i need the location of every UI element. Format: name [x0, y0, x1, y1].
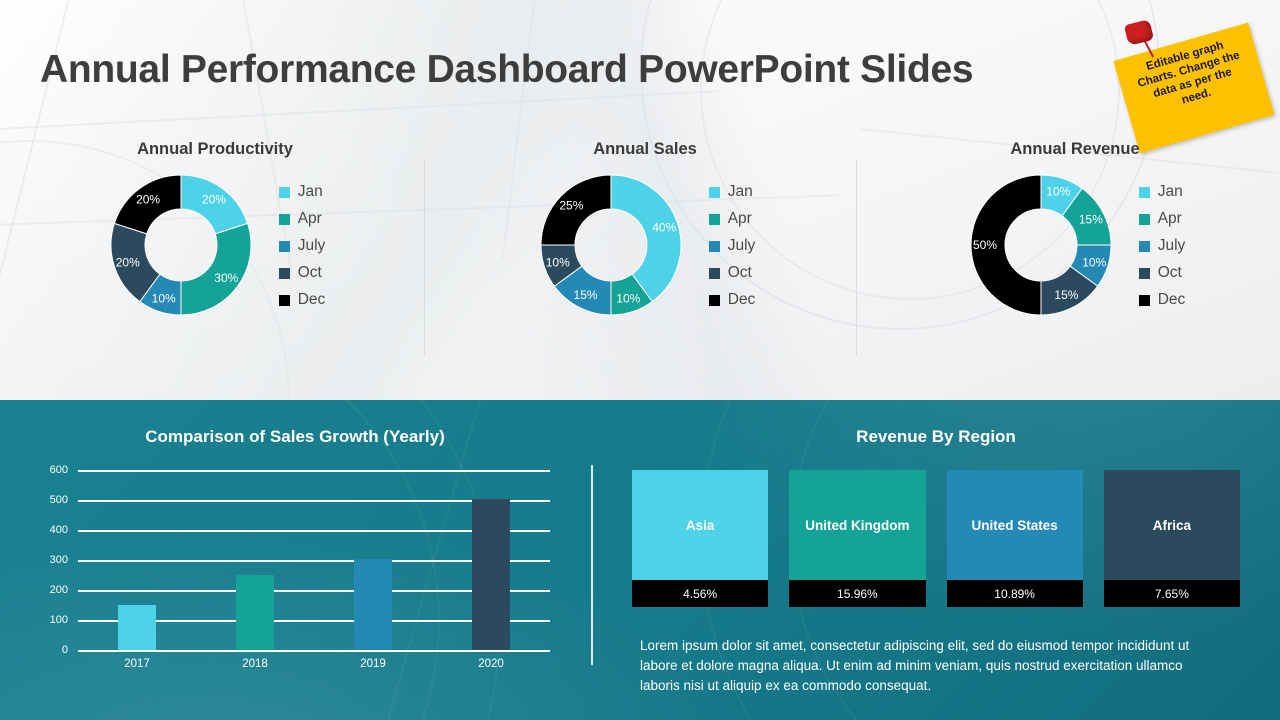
legend-swatch-icon	[279, 214, 290, 225]
region-card[interactable]: United Kingdom15.96%	[789, 470, 925, 607]
legend-item[interactable]: Dec	[709, 291, 756, 309]
legend-label: Jan	[298, 183, 323, 201]
donut-segment-value: 10%	[151, 291, 175, 305]
bar[interactable]	[236, 575, 274, 650]
panel-divider	[424, 160, 425, 356]
region-card-body: United Kingdom	[789, 470, 925, 580]
panel-divider	[856, 160, 857, 356]
slide-root: Annual Performance Dashboard PowerPoint …	[0, 0, 1280, 720]
legend-label: Oct	[728, 264, 752, 282]
region-percent-bar: 15.96%	[789, 580, 925, 607]
legend-swatch-icon	[709, 187, 720, 198]
region-card-body: Africa	[1104, 470, 1240, 580]
donut-segment-value: 25%	[559, 198, 583, 212]
region-percent-value: 10.89%	[994, 587, 1035, 601]
section-divider	[591, 465, 593, 665]
region-percent-bar: 10.89%	[947, 580, 1083, 607]
legend-swatch-icon	[709, 241, 720, 252]
legend-label: Apr	[298, 210, 322, 228]
legend-item[interactable]: Jan	[279, 183, 326, 201]
legend-label: Oct	[1158, 264, 1182, 282]
region-card[interactable]: United States10.89%	[947, 470, 1083, 607]
legend-item[interactable]: Apr	[1139, 210, 1186, 228]
region-percent-value: 7.65%	[1155, 587, 1189, 601]
legend-swatch-icon	[1139, 187, 1150, 198]
legend-item[interactable]: Apr	[709, 210, 756, 228]
legend-item[interactable]: Dec	[279, 291, 326, 309]
x-axis-tick-label: 2020	[478, 658, 504, 670]
donut-chart: 20%30%10%20%20%	[105, 169, 257, 321]
region-card[interactable]: Africa7.65%	[1104, 470, 1240, 607]
legend-label: Jan	[728, 183, 753, 201]
region-percent-bar: 7.65%	[1104, 580, 1240, 607]
donut-segment-value: 15%	[1054, 288, 1078, 302]
donut-legend: JanAprJulyOctDec	[709, 181, 756, 309]
legend-swatch-icon	[279, 295, 290, 306]
region-percent-value: 4.56%	[683, 587, 717, 601]
donut-segment-value: 10%	[545, 255, 569, 269]
legend-swatch-icon	[1139, 214, 1150, 225]
legend-item[interactable]: Oct	[709, 264, 756, 282]
legend-item[interactable]: Apr	[279, 210, 326, 228]
donut-legend: JanAprJulyOctDec	[1139, 181, 1186, 309]
legend-item[interactable]: July	[1139, 237, 1186, 255]
sales-growth-bar-chart: 0100200300400500600 2017201820192020	[30, 470, 550, 670]
x-axis-labels: 2017201820192020	[78, 658, 550, 678]
legend-label: Dec	[728, 291, 756, 309]
legend-label: July	[1158, 237, 1186, 255]
push-pin-icon	[1124, 19, 1154, 46]
donut-panel-sales: Annual Sales40%10%15%10%25%JanAprJulyOct…	[440, 140, 850, 370]
region-percent-bar: 4.56%	[632, 580, 768, 607]
donut-segment-value: 10%	[1082, 255, 1106, 269]
y-axis-tick-label: 400	[50, 524, 68, 536]
region-card-body: United States	[947, 470, 1083, 580]
legend-label: Dec	[1158, 291, 1186, 309]
region-card-list: Asia4.56%United Kingdom15.96%United Stat…	[632, 470, 1240, 607]
donut-title: Annual Productivity	[10, 140, 420, 159]
y-axis-tick-label: 600	[50, 464, 68, 476]
page-title: Annual Performance Dashboard PowerPoint …	[40, 48, 1200, 92]
donut-title: Annual Sales	[440, 140, 850, 159]
region-name: Africa	[1153, 517, 1191, 534]
y-axis-tick-label: 500	[50, 494, 68, 506]
donut-title: Annual Revenue	[870, 140, 1280, 159]
donut-segment-value: 20%	[136, 193, 160, 207]
legend-swatch-icon	[1139, 295, 1150, 306]
donut-segment-value: 10%	[1046, 185, 1070, 199]
y-axis-tick-label: 100	[50, 614, 68, 626]
legend-label: Apr	[728, 210, 752, 228]
x-axis-tick-label: 2019	[360, 658, 386, 670]
legend-item[interactable]: Jan	[1139, 183, 1186, 201]
gridline	[78, 650, 550, 652]
legend-item[interactable]: Oct	[279, 264, 326, 282]
bg-texture-line	[0, 90, 720, 132]
donut-segment-value: 20%	[115, 255, 139, 269]
legend-label: July	[298, 237, 326, 255]
bar-chart-title: Comparison of Sales Growth (Yearly)	[30, 427, 560, 447]
bar[interactable]	[354, 559, 392, 651]
bar-plot-area	[78, 470, 550, 650]
x-axis-tick-label: 2017	[124, 658, 150, 670]
region-name: United States	[971, 517, 1057, 534]
y-axis-tick-label: 200	[50, 584, 68, 596]
donut-segment-value: 20%	[202, 193, 226, 207]
legend-label: Apr	[1158, 210, 1182, 228]
y-axis-tick-label: 300	[50, 554, 68, 566]
legend-item[interactable]: July	[709, 237, 756, 255]
donut-segment-value: 10%	[616, 291, 640, 305]
legend-swatch-icon	[709, 295, 720, 306]
regions-title: Revenue By Region	[632, 427, 1240, 447]
x-axis-tick-label: 2018	[242, 658, 268, 670]
donut-panel-revenue: Annual Revenue10%15%10%15%50%JanAprJulyO…	[870, 140, 1280, 370]
legend-swatch-icon	[279, 187, 290, 198]
donut-segment-value: 15%	[573, 288, 597, 302]
donut-segment-value: 15%	[1079, 213, 1103, 227]
legend-swatch-icon	[1139, 241, 1150, 252]
legend-swatch-icon	[709, 268, 720, 279]
legend-label: July	[728, 237, 756, 255]
legend-swatch-icon	[709, 214, 720, 225]
regions-body-text: Lorem ipsum dolor sit amet, consectetur …	[640, 636, 1220, 696]
gridline	[78, 470, 550, 472]
donut-segment-value: 30%	[214, 271, 238, 285]
donut-body: 20%30%10%20%20%JanAprJulyOctDec	[10, 169, 420, 321]
legend-label: Jan	[1158, 183, 1183, 201]
legend-swatch-icon	[1139, 268, 1150, 279]
donut-segment-value: 40%	[652, 221, 676, 235]
bar[interactable]	[472, 499, 510, 651]
legend-swatch-icon	[279, 268, 290, 279]
region-name: Asia	[686, 517, 715, 534]
region-name: United Kingdom	[805, 517, 909, 534]
donut-body: 40%10%15%10%25%JanAprJulyOctDec	[440, 169, 850, 321]
y-axis-labels: 0100200300400500600	[30, 470, 68, 650]
region-card[interactable]: Asia4.56%	[632, 470, 768, 607]
legend-label: Dec	[298, 291, 326, 309]
donut-panel-productivity: Annual Productivity20%30%10%20%20%JanApr…	[10, 140, 420, 370]
legend-item[interactable]: Jan	[709, 183, 756, 201]
bar[interactable]	[118, 605, 156, 650]
donut-segment[interactable]	[181, 223, 251, 315]
region-card-body: Asia	[632, 470, 768, 580]
legend-item[interactable]: July	[279, 237, 326, 255]
legend-label: Oct	[298, 264, 322, 282]
legend-item[interactable]: Dec	[1139, 291, 1186, 309]
donut-chart: 40%10%15%10%25%	[535, 169, 687, 321]
donut-segment-value: 50%	[973, 238, 997, 252]
editable-note[interactable]: Editable graph Charts. Change the data a…	[1112, 14, 1280, 144]
donut-legend: JanAprJulyOctDec	[279, 181, 326, 309]
legend-swatch-icon	[279, 241, 290, 252]
legend-item[interactable]: Oct	[1139, 264, 1186, 282]
donut-body: 10%15%10%15%50%JanAprJulyOctDec	[870, 169, 1280, 321]
region-percent-value: 15.96%	[837, 587, 878, 601]
y-axis-tick-label: 0	[62, 644, 68, 656]
donut-chart: 10%15%10%15%50%	[965, 169, 1117, 321]
